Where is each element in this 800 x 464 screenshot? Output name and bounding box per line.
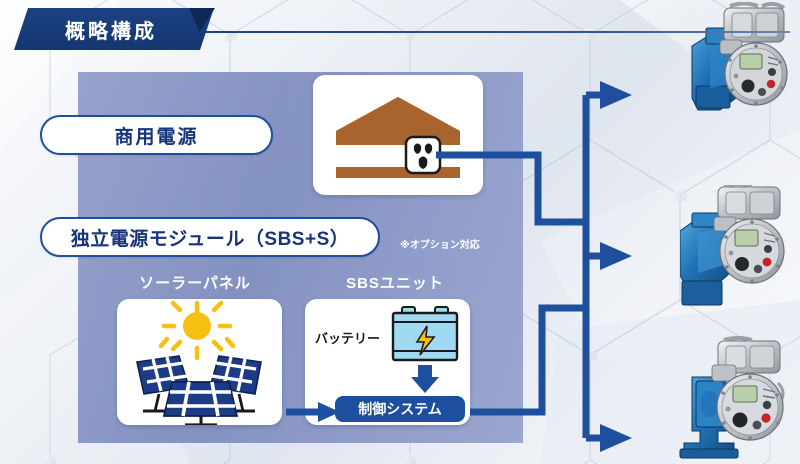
selector-knob [764,245,772,253]
building-card [313,75,483,195]
control-head [725,43,787,105]
battery-icon [393,307,457,360]
sbs-unit-card: バッテリー 制御システム [305,299,470,425]
commercial-power-label: 商用電源 [40,115,273,155]
independent-power-module-text: 独立電源モジュール（SBS+S） [71,224,350,251]
lcd-display [740,54,762,69]
commercial-power-text: 商用電源 [114,122,198,149]
selector-knob [768,68,776,76]
stop-button [763,258,772,267]
sbs-unit-section-label: SBSユニット [320,272,470,293]
banner-rule-line [130,31,790,33]
factory-building-icon [313,75,483,195]
option-note: ※オプション対応 [400,236,480,251]
battery-label-text: バッテリー [315,331,380,346]
electric-valve-actuator-icon [678,335,794,461]
control-system-label-text: 制御システム [358,401,442,417]
title-banner: 概略構成 [0,8,800,50]
page-title: 概略構成 [14,8,214,50]
stop-button [761,413,770,422]
mode-selector [742,80,755,93]
solar-panel-card [117,299,282,425]
selector-knob [763,401,771,409]
solar-panel-center [164,382,237,425]
lcd-display [735,230,758,246]
independent-power-module-label: 独立電源モジュール（SBS+S） [40,217,380,257]
control-head [720,219,784,283]
sbs-unit-contents: バッテリー 制御システム [305,299,470,425]
lcd-display [733,386,757,402]
actuator-unit-3 [678,335,794,461]
solar-panel-array-icon [117,299,282,425]
electric-valve-actuator-icon [680,185,792,307]
mode-selector [733,413,748,428]
stop-button [767,80,775,88]
solar-panel-section-label: ソーラーパネル [110,272,280,293]
control-head [717,374,783,440]
mode-selector [735,257,749,271]
actuator-unit-2 [680,185,792,307]
power-outlet-icon [406,137,440,173]
battery-control-bidirectional-arrow [411,365,439,393]
control-system-box: 制御システム [335,396,465,422]
